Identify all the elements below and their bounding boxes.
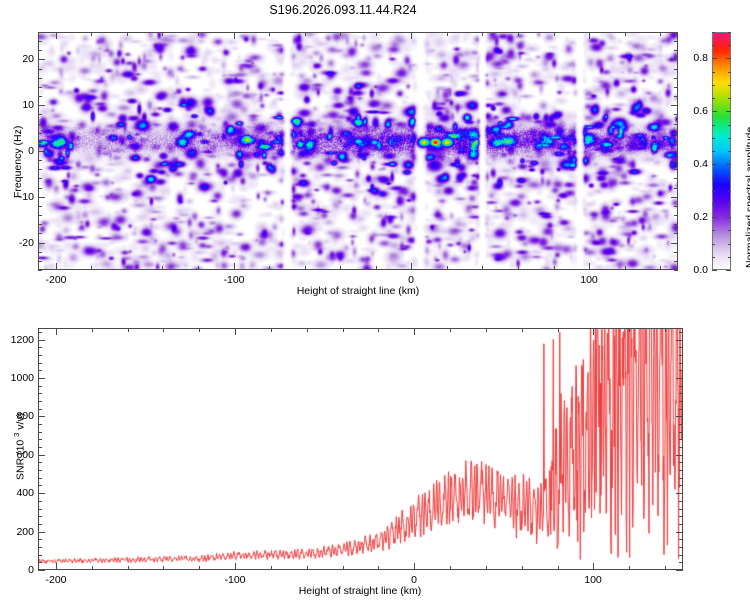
spectrogram-ytick-minor — [38, 270, 42, 271]
snr-ytick-minor — [679, 501, 683, 502]
spectrogram-ytick-major — [38, 105, 45, 106]
snr-yticklabel: 200 — [0, 526, 34, 538]
spectrogram-ytick-minor — [38, 188, 42, 189]
colorbar-tick-minor — [728, 125, 731, 126]
spectrogram-ytick-minor — [674, 41, 678, 42]
spectrogram-xtick-minor — [91, 266, 92, 270]
snr-line-series — [39, 329, 682, 569]
spectrogram-xtick-minor — [162, 32, 163, 36]
spectrogram-ytick-minor — [38, 32, 42, 33]
colorbar-tick-minor — [728, 45, 731, 46]
snr-ytick-major — [38, 570, 45, 571]
snr-ytick-minor — [38, 409, 42, 410]
snr-yticklabel: 1000 — [0, 372, 34, 384]
colorbar-tick-minor — [712, 58, 715, 59]
page-title: S196.2026.093.11.44.R24 — [0, 3, 686, 17]
spectrogram-xtick-minor — [625, 32, 626, 36]
snr-ytick-minor — [679, 547, 683, 548]
spectrogram-ytick-minor — [674, 32, 678, 33]
spectrogram-panel — [38, 32, 678, 270]
snr-ytick-minor — [679, 332, 683, 333]
snr-xtick-minor — [271, 328, 272, 332]
spectrogram-xtick-minor — [376, 266, 377, 270]
snr-ytick-minor — [679, 409, 683, 410]
snr-ytick-major — [38, 532, 45, 533]
colorbar-tick-minor — [728, 138, 731, 139]
spectrogram-xtick-minor — [554, 32, 555, 36]
spectrogram-xtick-minor — [127, 266, 128, 270]
colorbar-tick-minor — [712, 230, 715, 231]
snr-xtick-minor — [199, 566, 200, 570]
colorbar-ticklabel: 0.6 — [676, 105, 708, 117]
spectrogram-ytick-minor — [38, 41, 42, 42]
spectrogram-xticklabel: -100 — [223, 274, 244, 286]
spectrogram-ytick-major — [671, 243, 678, 244]
colorbar-ticklabel: 0.4 — [676, 158, 708, 170]
snr-xtick-minor — [450, 566, 451, 570]
colorbar-ticklabel: 0.0 — [676, 264, 708, 276]
figure-root: S196.2026.093.11.44.R24 -200-1000100 -20… — [0, 0, 750, 600]
colorbar-tick-minor — [712, 244, 715, 245]
snr-ytick-minor — [38, 470, 42, 471]
snr-ytick-minor — [679, 424, 683, 425]
spectrogram-ytick-major — [38, 151, 45, 152]
snr-ytick-minor — [679, 355, 683, 356]
colorbar-tick-minor — [712, 32, 715, 33]
colorbar-tick-minor — [728, 177, 731, 178]
snr-xtick-minor — [271, 566, 272, 570]
snr-ytick-minor — [38, 539, 42, 540]
spectrogram-ytick-minor — [674, 224, 678, 225]
spectrogram-ytick-minor — [674, 178, 678, 179]
snr-xtick-major — [235, 328, 236, 335]
snr-ytick-minor — [38, 370, 42, 371]
snr-ytick-minor — [38, 501, 42, 502]
colorbar-tick-minor — [728, 32, 731, 33]
snr-ytick-major — [676, 340, 683, 341]
spectrogram-xtick-major — [589, 32, 590, 39]
spectrogram-ytick-minor — [38, 169, 42, 170]
snr-ytick-minor — [679, 562, 683, 563]
spectrogram-xticklabel: 100 — [580, 274, 598, 286]
spectrogram-xtick-minor — [340, 266, 341, 270]
spectrogram-yticklabel: -20 — [0, 237, 34, 249]
colorbar-tick-minor — [728, 204, 731, 205]
snr-ytick-minor — [679, 509, 683, 510]
spectrogram-ytick-minor — [38, 252, 42, 253]
colorbar-tick-minor — [728, 98, 731, 99]
spectrogram-xtick-minor — [518, 266, 519, 270]
snr-ytick-minor — [679, 539, 683, 540]
snr-xticklabel: 100 — [584, 574, 602, 586]
snr-ytick-minor — [679, 478, 683, 479]
colorbar-tick-minor — [728, 111, 731, 112]
spectrogram-xtick-minor — [305, 32, 306, 36]
colorbar-tick-minor — [712, 72, 715, 73]
spectrogram-ytick-minor — [674, 261, 678, 262]
spectrogram-ytick-major — [38, 59, 45, 60]
snr-xtick-minor — [378, 566, 379, 570]
snr-xticklabel: -200 — [45, 574, 66, 586]
snr-ytick-major — [38, 455, 45, 456]
snr-ytick-minor — [38, 447, 42, 448]
snr-xtick-minor — [486, 566, 487, 570]
snr-ytick-minor — [38, 462, 42, 463]
snr-xtick-minor — [199, 328, 200, 332]
colorbar-tick-minor — [728, 72, 731, 73]
snr-yticklabel: 0 — [0, 564, 34, 576]
colorbar-tick-minor — [712, 85, 715, 86]
snr-ytick-minor — [679, 439, 683, 440]
snr-ytick-minor — [679, 447, 683, 448]
spectrogram-xaxis-label: Height of straight line (km) — [297, 285, 420, 297]
spectrogram-xtick-minor — [91, 32, 92, 36]
spectrogram-xtick-major — [56, 263, 57, 270]
snr-ytick-minor — [38, 439, 42, 440]
snr-yticklabel: 1200 — [0, 334, 34, 346]
colorbar-tick-minor — [728, 257, 731, 258]
colorbar-tick-minor — [712, 45, 715, 46]
snr-ytick-major — [676, 416, 683, 417]
colorbar-tick-minor — [728, 58, 731, 59]
spectrogram-xtick-major — [56, 32, 57, 39]
snr-plot-area — [39, 329, 682, 569]
colorbar-tick-minor — [728, 85, 731, 86]
snr-xtick-minor — [128, 566, 129, 570]
colorbar-tick-minor — [728, 217, 731, 218]
snr-ytick-minor — [38, 516, 42, 517]
spectrogram-ytick-minor — [38, 142, 42, 143]
colorbar-tick-minor — [712, 111, 715, 112]
snr-ytick-minor — [38, 524, 42, 525]
snr-ytick-minor — [38, 478, 42, 479]
colorbar-label: Normalized spectral amplitude — [744, 127, 750, 268]
spectrogram-xtick-minor — [447, 32, 448, 36]
colorbar-tick-minor — [728, 244, 731, 245]
spectrogram-xtick-minor — [518, 32, 519, 36]
snr-xtick-minor — [558, 328, 559, 332]
colorbar-tick-minor — [712, 177, 715, 178]
spectrogram-ytick-minor — [38, 133, 42, 134]
spectrogram-ytick-major — [671, 151, 678, 152]
colorbar-tick-minor — [728, 270, 731, 271]
spectrogram-xtick-minor — [660, 266, 661, 270]
snr-ytick-minor — [679, 485, 683, 486]
snr-xtick-minor — [665, 566, 666, 570]
snr-ytick-minor — [679, 363, 683, 364]
spectrogram-xtick-minor — [660, 32, 661, 36]
snr-xtick-major — [56, 563, 57, 570]
snr-xtick-major — [56, 328, 57, 335]
snr-xtick-major — [414, 563, 415, 570]
snr-xtick-minor — [629, 328, 630, 332]
snr-ytick-minor — [38, 363, 42, 364]
spectrogram-ytick-minor — [38, 160, 42, 161]
snr-xtick-minor — [629, 566, 630, 570]
snr-xtick-major — [593, 563, 594, 570]
snr-ytick-major — [676, 378, 683, 379]
snr-xtick-major — [414, 328, 415, 335]
spectrogram-xtick-minor — [198, 266, 199, 270]
snr-ytick-minor — [679, 462, 683, 463]
spectrogram-ytick-minor — [38, 206, 42, 207]
spectrogram-ytick-major — [38, 243, 45, 244]
snr-ytick-major — [676, 570, 683, 571]
spectrogram-ytick-minor — [38, 96, 42, 97]
spectrogram-ytick-minor — [38, 124, 42, 125]
spectrogram-ytick-minor — [38, 261, 42, 262]
spectrogram-xtick-minor — [269, 266, 270, 270]
spectrogram-xtick-minor — [127, 32, 128, 36]
snr-ytick-major — [38, 378, 45, 379]
snr-xtick-minor — [92, 566, 93, 570]
snr-ytick-minor — [38, 555, 42, 556]
spectrogram-xticklabel: -200 — [45, 274, 66, 286]
spectrogram-xtick-minor — [340, 32, 341, 36]
spectrogram-ytick-minor — [38, 78, 42, 79]
colorbar-tick-minor — [712, 191, 715, 192]
snr-ytick-minor — [38, 562, 42, 563]
spectrogram-ytick-minor — [38, 87, 42, 88]
spectrogram-ytick-major — [38, 197, 45, 198]
spectrogram-ytick-minor — [674, 69, 678, 70]
colorbar-tick-minor — [712, 138, 715, 139]
snr-ytick-minor — [38, 347, 42, 348]
colorbar-tick-minor — [712, 98, 715, 99]
snr-ytick-major — [38, 340, 45, 341]
snr-ytick-minor — [679, 393, 683, 394]
colorbar-tick-minor — [728, 164, 731, 165]
snr-ytick-minor — [38, 332, 42, 333]
spectrogram-xtick-major — [589, 263, 590, 270]
spectrogram-xtick-minor — [482, 266, 483, 270]
spectrogram-xtick-minor — [376, 32, 377, 36]
colorbar-tick-minor — [728, 230, 731, 231]
spectrogram-xtick-minor — [162, 266, 163, 270]
snr-ytick-major — [38, 416, 45, 417]
spectrogram-ytick-minor — [674, 142, 678, 143]
snr-xtick-minor — [665, 328, 666, 332]
snr-panel — [38, 328, 683, 570]
snr-ytick-minor — [38, 401, 42, 402]
snr-xtick-minor — [307, 566, 308, 570]
snr-ytick-major — [38, 493, 45, 494]
spectrogram-xtick-minor — [482, 32, 483, 36]
spectrogram-ytick-minor — [674, 133, 678, 134]
spectrogram-xtick-major — [234, 263, 235, 270]
spectrogram-yticklabel: 10 — [0, 99, 34, 111]
colorbar-tick-minor — [712, 125, 715, 126]
colorbar-tick-minor — [712, 164, 715, 165]
spectrogram-ytick-minor — [38, 114, 42, 115]
snr-xtick-minor — [558, 566, 559, 570]
spectrogram-ytick-minor — [674, 233, 678, 234]
spectrogram-image — [39, 33, 677, 269]
snr-ytick-minor — [38, 485, 42, 486]
snr-xtick-minor — [163, 566, 164, 570]
snr-ytick-minor — [38, 509, 42, 510]
snr-yticklabel: 400 — [0, 487, 34, 499]
colorbar-tick-minor — [712, 151, 715, 152]
colorbar-tick-minor — [712, 257, 715, 258]
snr-ytick-minor — [679, 401, 683, 402]
colorbar-ticklabel: 0.8 — [676, 52, 708, 64]
snr-ytick-minor — [679, 555, 683, 556]
spectrogram-xtick-major — [411, 32, 412, 39]
colorbar-tick-minor — [728, 191, 731, 192]
spectrogram-ytick-major — [671, 197, 678, 198]
spectrogram-xtick-minor — [198, 32, 199, 36]
colorbar-tick-minor — [712, 217, 715, 218]
colorbar-tick-minor — [728, 151, 731, 152]
snr-xtick-minor — [486, 328, 487, 332]
spectrogram-ytick-minor — [674, 124, 678, 125]
spectrogram-ytick-minor — [38, 215, 42, 216]
snr-ytick-minor — [679, 470, 683, 471]
snr-xtick-minor — [92, 328, 93, 332]
colorbar-tick-minor — [712, 270, 715, 271]
snr-xtick-minor — [163, 328, 164, 332]
spectrogram-xtick-minor — [269, 32, 270, 36]
snr-xaxis-label: Height of straight line (km) — [299, 585, 422, 597]
snr-ytick-major — [676, 532, 683, 533]
colorbar-tick-minor — [712, 204, 715, 205]
snr-ytick-major — [676, 493, 683, 494]
snr-ytick-minor — [38, 424, 42, 425]
snr-xtick-major — [593, 328, 594, 335]
snr-xtick-minor — [378, 328, 379, 332]
snr-ytick-minor — [38, 355, 42, 356]
spectrogram-ytick-minor — [674, 78, 678, 79]
spectrogram-xtick-minor — [625, 266, 626, 270]
spectrogram-ytick-minor — [38, 233, 42, 234]
spectrogram-ytick-minor — [674, 50, 678, 51]
snr-ytick-minor — [38, 393, 42, 394]
spectrogram-xtick-minor — [447, 266, 448, 270]
colorbar-ticklabel: 0.2 — [676, 211, 708, 223]
spectrogram-ytick-minor — [674, 206, 678, 207]
snr-xtick-major — [235, 563, 236, 570]
snr-ylabel-exponent: 3 — [12, 433, 21, 437]
snr-xtick-minor — [128, 328, 129, 332]
spectrogram-ytick-minor — [674, 87, 678, 88]
snr-xticklabel: -100 — [224, 574, 245, 586]
spectrogram-xtick-minor — [554, 266, 555, 270]
snr-xtick-minor — [522, 566, 523, 570]
spectrogram-ytick-minor — [674, 96, 678, 97]
spectrogram-xtick-minor — [305, 266, 306, 270]
snr-ytick-minor — [679, 524, 683, 525]
snr-xtick-minor — [522, 328, 523, 332]
snr-xtick-minor — [343, 328, 344, 332]
spectrogram-plot-area — [39, 33, 677, 269]
spectrogram-xtick-major — [234, 32, 235, 39]
snr-yaxis-label: SNR (10 3 v/v) — [12, 413, 27, 480]
spectrogram-xtick-major — [411, 263, 412, 270]
snr-xtick-minor — [450, 328, 451, 332]
spectrogram-ytick-minor — [38, 178, 42, 179]
snr-ytick-minor — [679, 347, 683, 348]
snr-ytick-minor — [679, 516, 683, 517]
spectrogram-ytick-minor — [674, 252, 678, 253]
snr-ytick-minor — [38, 547, 42, 548]
snr-ytick-minor — [679, 432, 683, 433]
spectrogram-ytick-minor — [38, 69, 42, 70]
spectrogram-ytick-minor — [38, 50, 42, 51]
spectrogram-ytick-minor — [674, 188, 678, 189]
snr-ytick-minor — [38, 432, 42, 433]
snr-ytick-minor — [679, 386, 683, 387]
snr-ytick-minor — [679, 370, 683, 371]
spectrogram-yticklabel: 20 — [0, 53, 34, 65]
snr-xtick-minor — [343, 566, 344, 570]
snr-ytick-major — [676, 455, 683, 456]
snr-ytick-minor — [38, 386, 42, 387]
snr-xtick-minor — [307, 328, 308, 332]
spectrogram-yaxis-label: Frequency (Hz) — [12, 126, 24, 198]
spectrogram-ytick-minor — [38, 224, 42, 225]
